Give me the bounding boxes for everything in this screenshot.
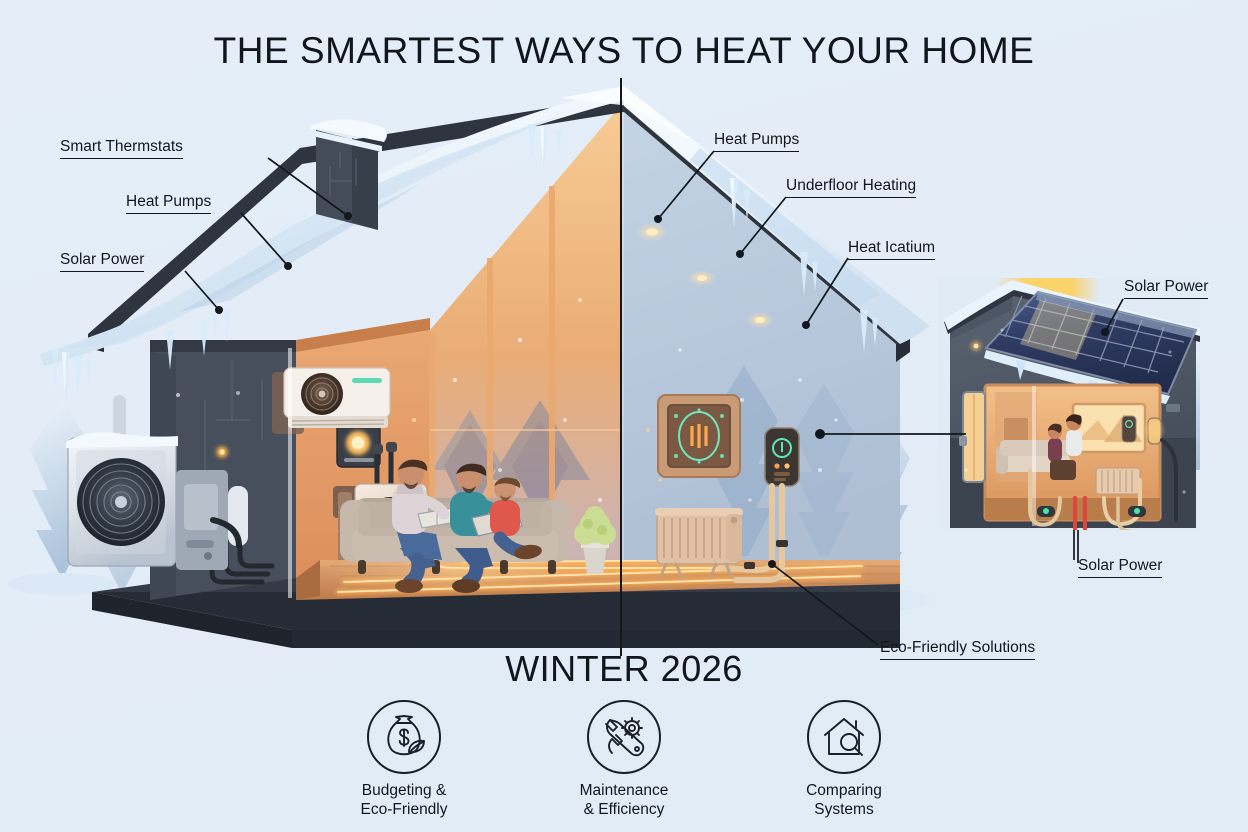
footer-icon-row: Budgeting & Eco-Friendly Maintenance & E… [0,700,1248,820]
callout-label: Smart Thermstats [60,138,183,159]
callout-solar-power-left[interactable]: Solar Power [60,251,144,272]
house-magnifier-icon [807,700,881,774]
callout-heat-icatium[interactable]: Heat Icatium [848,239,935,260]
infographic-canvas: THE SMARTEST WAYS TO HEAT YOUR HOME WINT… [0,0,1248,832]
callout-label: Heat Icatium [848,239,935,260]
footer-item-caption: Budgeting & Eco-Friendly [329,782,479,820]
center-divider-line [620,78,622,656]
money-bag-leaf-icon [367,700,441,774]
season-subtitle: WINTER 2026 [0,648,1248,690]
footer-item-maintenance[interactable]: Maintenance & Efficiency [549,700,699,820]
smart-controller-panel [765,428,799,486]
footer-item-comparing[interactable]: Comparing Systems [769,700,919,820]
page-title: THE SMARTEST WAYS TO HEAT YOUR HOME [0,30,1248,72]
footer-item-caption: Maintenance & Efficiency [549,782,699,820]
callout-heat-pumps-left[interactable]: Heat Pumps [126,193,211,214]
callout-smart-thermostats[interactable]: Smart Thermstats [60,138,183,159]
callout-eco-friendly-solutions[interactable]: Eco-Friendly Solutions [880,639,1035,660]
callout-label: Eco-Friendly Solutions [880,639,1035,660]
callout-label: Solar Power [60,251,144,272]
callout-label: Solar Power [1078,557,1162,578]
callout-label: Underfloor Heating [786,177,916,198]
callout-heat-pumps-right[interactable]: Heat Pumps [714,131,799,152]
footer-item-caption: Comparing Systems [769,782,919,820]
callout-solar-power-inset-top[interactable]: Solar Power [1124,278,1208,299]
wall-mounted-thermostat-display [658,395,740,477]
inset-radiator [1096,468,1140,494]
inset-living-room [985,385,1160,520]
callout-label: Heat Pumps [126,193,211,214]
callout-label: Solar Power [1124,278,1208,299]
wrench-gear-icon [587,700,661,774]
inset-exterior-window [959,392,985,482]
callout-solar-power-inset-bottom[interactable]: Solar Power [1078,557,1162,578]
callout-underfloor-heating[interactable]: Underfloor Heating [786,177,916,198]
footer-item-budgeting[interactable]: Budgeting & Eco-Friendly [329,700,479,820]
callout-label: Heat Pumps [714,131,799,152]
